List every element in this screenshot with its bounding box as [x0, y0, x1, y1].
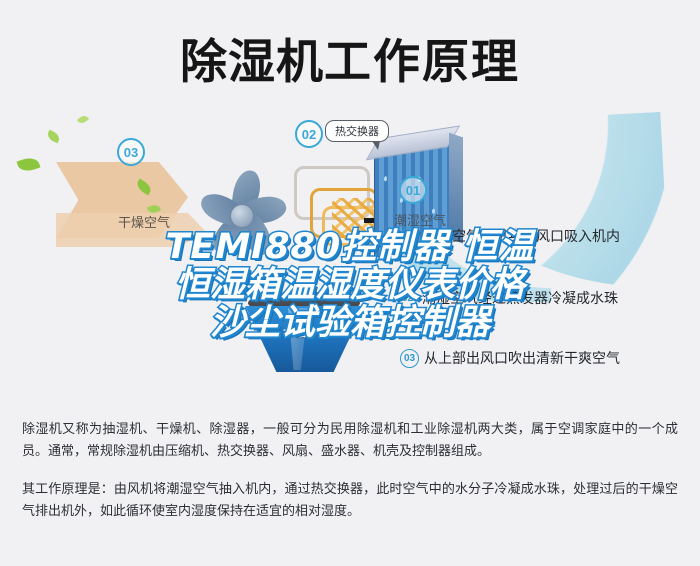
title-part-1: 除湿机 — [180, 35, 324, 90]
step-number-01: 01 — [400, 227, 419, 246]
step-caption-03: 03 从上部出风口吹出清新干爽空气 — [400, 348, 620, 368]
leaf-icon — [17, 155, 41, 174]
step-number-02: 02 — [398, 289, 417, 308]
diagram-marker-01: 01 — [399, 176, 427, 204]
heat-exchanger-callout: 热交换器 — [325, 120, 389, 142]
step-text-03: 从上部出风口吹出清新干爽空气 — [424, 348, 620, 368]
step-caption-01: 01 潮湿空气从机身进风口吸入机内 — [400, 226, 620, 246]
working-principle-illustration: 水箱 03 02 01 热交换器 干燥空气 潮湿空气 01 潮湿空气从机身进风口… — [0, 110, 700, 405]
diagram-marker-02: 02 — [295, 120, 323, 148]
page-title: 除湿机工作原理 — [0, 26, 700, 98]
paragraph-2-lead: 其工作原理是： — [22, 481, 114, 496]
page-root: 除湿机工作原理 — [0, 0, 700, 566]
paragraph-1: 除湿机又称为抽湿机、干燥机、除湿器，一般可分为民用除湿机和工业除湿机两大类，属于… — [22, 418, 678, 462]
leaf-icon — [77, 114, 89, 126]
step-text-01: 潮湿空气从机身进风口吸入机内 — [424, 226, 620, 246]
dry-air-label: 干燥空气 — [118, 212, 170, 231]
step-number-03: 03 — [400, 349, 419, 368]
title-text: 除湿机工作原理 — [180, 39, 520, 86]
water-tank-label: 水箱 — [283, 324, 307, 340]
diagram-marker-03: 03 — [117, 138, 145, 166]
paragraph-2-rest: 由风机将潮湿空气抽入机内，通过热交换器，此时空气中的水分子冷凝成水珠，处理过后的… — [22, 481, 678, 518]
step-text-02: 潮湿空气经过蒸发器冷凝成水珠 — [422, 288, 618, 308]
fan-icon — [186, 160, 294, 260]
title-part-2: 工作原理 — [324, 35, 520, 90]
article-body: 除湿机又称为抽湿机、干燥机、除湿器，一般可分为民用除湿机和工业除湿机两大类，属于… — [22, 418, 678, 538]
fan-hub-icon — [230, 204, 254, 228]
step-caption-02: 02 潮湿空气经过蒸发器冷凝成水珠 — [398, 288, 618, 308]
paragraph-2: 其工作原理是：由风机将潮湿空气抽入机内，通过热交换器，此时空气中的水分子冷凝成水… — [22, 478, 678, 522]
leaf-icon — [46, 130, 62, 144]
